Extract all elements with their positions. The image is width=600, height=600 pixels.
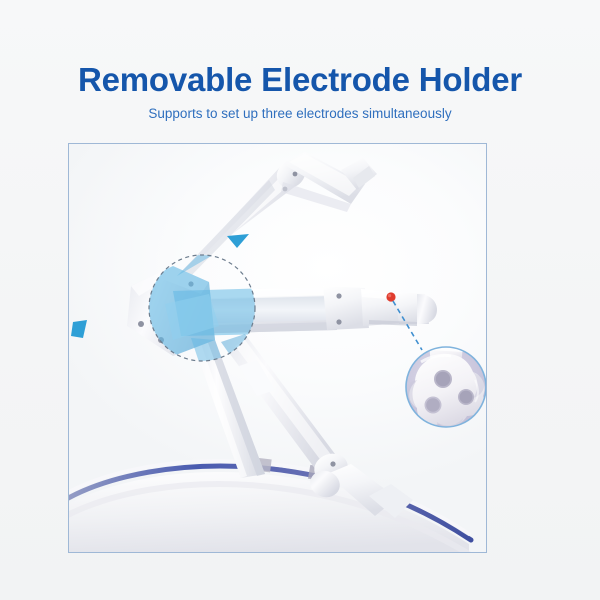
page-subtitle: Supports to set up three electrodes simu… xyxy=(0,105,600,123)
electrode-holder-marker xyxy=(386,292,395,301)
header: Removable Electrode Holder Supports to s… xyxy=(0,0,600,140)
device-base xyxy=(69,457,471,552)
product-image-frame xyxy=(68,143,487,553)
product-illustration xyxy=(69,144,486,552)
hub-tab-upper xyxy=(227,234,249,248)
electrode-holder-magnifier xyxy=(406,344,486,429)
page-root: Removable Electrode Holder Supports to s… xyxy=(0,0,600,600)
hub-tab-left xyxy=(71,320,87,338)
page-title: Removable Electrode Holder xyxy=(0,61,600,99)
upper-arm-segment xyxy=(177,152,377,282)
